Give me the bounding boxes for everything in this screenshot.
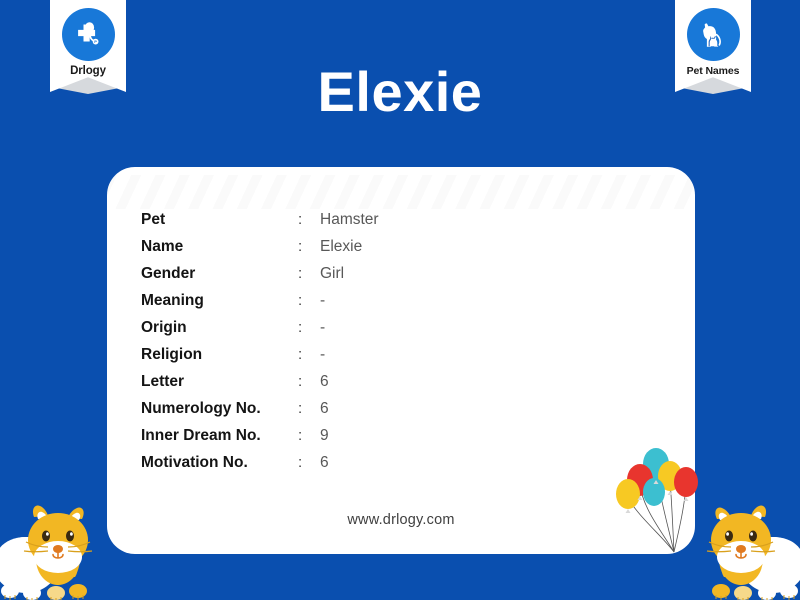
table-row: Pet : Hamster (141, 211, 379, 238)
drlogy-logo-icon: P (62, 8, 115, 61)
table-row: Name : Elexie (141, 238, 379, 265)
table-row: Numerology No. : 6 (141, 400, 379, 427)
pet-info-card: Pet : Hamster Name : Elexie Gender : Gir… (107, 167, 695, 554)
table-row: Inner Dream No. : 9 (141, 427, 379, 454)
svg-text:P: P (94, 39, 97, 44)
row-value: Hamster (320, 211, 379, 229)
hamster-icon-right (697, 495, 800, 600)
row-label: Pet (141, 211, 298, 229)
row-label: Religion (141, 346, 298, 364)
row-value: Elexie (320, 238, 362, 256)
row-value: 6 (320, 454, 329, 472)
table-row: Origin : - (141, 319, 379, 346)
row-label: Meaning (141, 292, 298, 310)
row-separator: : (298, 292, 320, 309)
row-separator: : (298, 454, 320, 471)
row-value: Girl (320, 265, 344, 283)
balloons-icon (612, 440, 708, 558)
row-separator: : (298, 373, 320, 390)
pet-info-table: Pet : Hamster Name : Elexie Gender : Gir… (141, 211, 379, 481)
row-value: - (320, 319, 325, 337)
row-separator: : (298, 319, 320, 336)
row-label: Origin (141, 319, 298, 337)
pet-name-poster: P Drlogy Pet Names Elexie Pet : Ha (0, 0, 800, 600)
row-separator: : (298, 265, 320, 282)
row-separator: : (298, 238, 320, 255)
row-label: Gender (141, 265, 298, 283)
website-url: www.drlogy.com (107, 512, 695, 528)
row-value: - (320, 292, 325, 310)
table-row: Gender : Girl (141, 265, 379, 292)
row-separator: : (298, 427, 320, 444)
pet-names-logo-icon (687, 8, 740, 61)
row-label: Motivation No. (141, 454, 298, 472)
row-separator: : (298, 346, 320, 363)
row-separator: : (298, 211, 320, 228)
row-label: Letter (141, 373, 298, 391)
row-label: Inner Dream No. (141, 427, 298, 445)
row-separator: : (298, 400, 320, 417)
hamster-icon-left (0, 495, 102, 600)
page-title: Elexie (0, 64, 800, 120)
row-label: Name (141, 238, 298, 256)
table-row: Meaning : - (141, 292, 379, 319)
row-value: 9 (320, 427, 329, 445)
row-value: 6 (320, 400, 329, 418)
table-row: Religion : - (141, 346, 379, 373)
row-value: 6 (320, 373, 329, 391)
table-row: Motivation No. : 6 (141, 454, 379, 481)
row-label: Numerology No. (141, 400, 298, 418)
table-row: Letter : 6 (141, 373, 379, 400)
row-value: - (320, 346, 325, 364)
card-watermark (107, 175, 695, 209)
